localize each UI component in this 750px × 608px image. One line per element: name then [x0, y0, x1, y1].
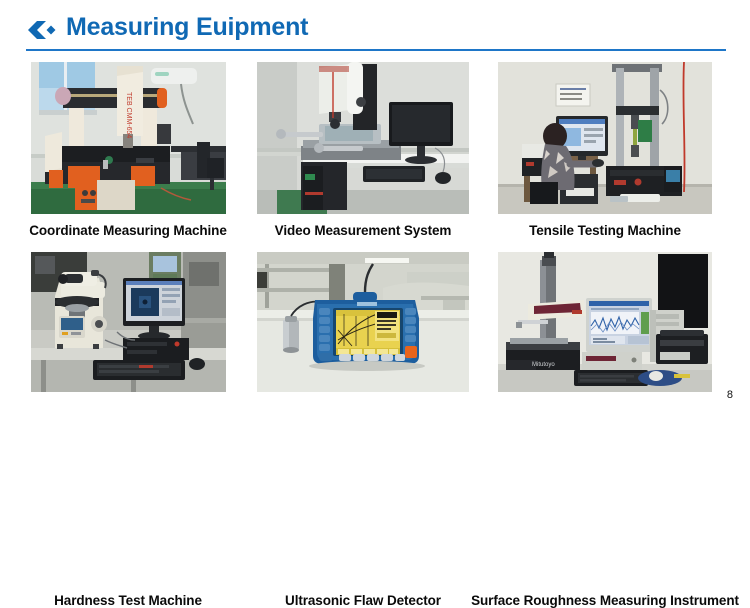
equipment-photo-grid: TEB CMM-654 Coordinate Measuring Machine — [0, 58, 750, 422]
caption-hardness-test-machine: Hardness Test Machine — [54, 593, 202, 608]
caption-surface-roughness-measuring-instrument: Surface Roughness Measuring Instrument — [471, 593, 739, 608]
photo-ultrasonic-flaw-detector — [257, 252, 469, 392]
slide-header: Measuring Euipment — [0, 0, 750, 56]
page-title: Measuring Euipment — [66, 13, 308, 42]
photo-coordinate-measuring-machine: TEB CMM-654 — [31, 62, 226, 214]
caption-coordinate-measuring-machine: Coordinate Measuring Machine — [29, 223, 226, 238]
caption-ultrasonic-flaw-detector: Ultrasonic Flaw Detector — [285, 593, 441, 608]
equipment-card-hardness-test-machine: Hardness Test Machine — [31, 252, 226, 392]
equipment-card-ultrasonic-flaw-detector: Ultrasonic Flaw Detector — [257, 252, 469, 392]
equipment-card-surface-roughness-measuring-instrument: Mitutoyo — [498, 252, 712, 392]
equipment-card-coordinate-measuring-machine: TEB CMM-654 Coordinate Measuring Machine — [31, 62, 226, 214]
svg-text:TEB CMM-654: TEB CMM-654 — [125, 92, 132, 138]
equipment-card-video-measurement-system: Video Measurement System — [257, 62, 469, 214]
page-number: 8 — [727, 389, 733, 401]
photo-surface-roughness-measuring-instrument: Mitutoyo — [498, 252, 712, 392]
photo-tensile-testing-machine — [498, 62, 712, 214]
caption-video-measurement-system: Video Measurement System — [275, 223, 452, 238]
equipment-card-tensile-testing-machine: Tensile Testing Machine — [498, 62, 712, 214]
diamond-chevron-bullet-icon — [26, 21, 58, 39]
slide-canvas: Measuring Euipment — [0, 0, 750, 422]
svg-text:Mitutoyo: Mitutoyo — [532, 362, 555, 368]
photo-video-measurement-system — [257, 62, 469, 214]
photo-hardness-test-machine — [31, 252, 226, 392]
caption-tensile-testing-machine: Tensile Testing Machine — [529, 223, 681, 238]
header-divider — [26, 49, 726, 51]
